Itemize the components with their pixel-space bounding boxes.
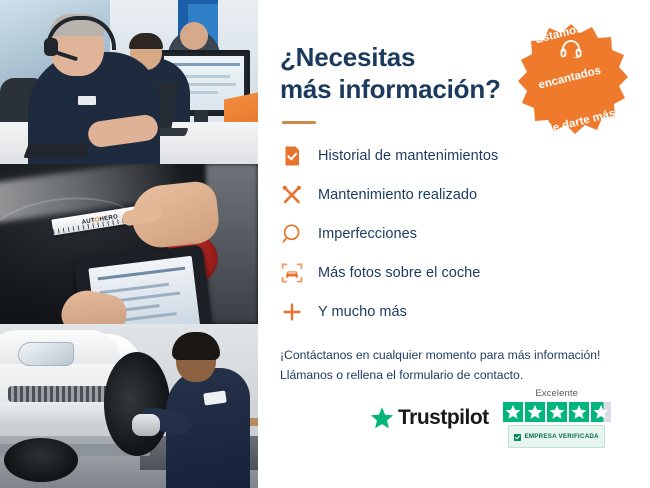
badge-line-1: Estamos bbox=[511, 17, 607, 53]
list-item: Y mucho más bbox=[280, 300, 650, 324]
badge-line-3: de darte más bbox=[533, 104, 629, 140]
trustpilot-star-icon bbox=[370, 406, 394, 430]
star-filled-icon bbox=[503, 402, 523, 422]
checklist-document-icon bbox=[280, 144, 304, 168]
contact-line-1: ¡Contáctanos en cualquier momento para m… bbox=[280, 348, 600, 362]
headline-line-1: ¿Necesitas bbox=[280, 42, 415, 72]
star-rating bbox=[503, 402, 611, 422]
trustpilot-logo[interactable]: Trustpilot bbox=[370, 406, 489, 430]
plus-icon bbox=[280, 300, 304, 324]
star-partial-icon bbox=[591, 402, 611, 422]
verified-label: EMPRESA VERIFICADA bbox=[524, 433, 598, 440]
photo-column: AUTOHERO bbox=[0, 0, 258, 488]
magnifier-icon bbox=[280, 222, 304, 246]
trustpilot-rating: Excelente bbox=[503, 388, 611, 448]
verified-check-icon bbox=[514, 428, 521, 446]
trustpilot-widget[interactable]: Trustpilot Excelente bbox=[370, 388, 611, 448]
star-filled-icon bbox=[547, 402, 567, 422]
rating-label: Excelente bbox=[535, 388, 578, 399]
trustpilot-brand: Trustpilot bbox=[398, 406, 489, 430]
car-inspection-photo: AUTOHERO bbox=[0, 164, 258, 324]
list-item: Imperfecciones bbox=[280, 222, 650, 246]
contact-text: ¡Contáctanos en cualquier momento para m… bbox=[280, 346, 630, 386]
content-panel: ¿Necesitas más información? Historial de… bbox=[258, 0, 650, 488]
workshop-wheel-photo bbox=[0, 324, 258, 488]
headline-line-2: más información? bbox=[280, 74, 501, 104]
status-badge: Estamos encantados de darte más informac… bbox=[510, 22, 632, 144]
verified-badge: EMPRESA VERIFICADA bbox=[508, 425, 604, 448]
list-item: Mantenimiento realizado bbox=[280, 183, 650, 207]
star-filled-icon bbox=[569, 402, 589, 422]
title-divider bbox=[282, 121, 316, 124]
list-item-label: Mantenimiento realizado bbox=[318, 187, 477, 203]
list-item-label: Historial de mantenimientos bbox=[318, 148, 498, 164]
call-center-agent-photo bbox=[0, 0, 258, 164]
badge-line-2: encantados bbox=[522, 60, 618, 96]
car-viewfinder-icon bbox=[280, 261, 304, 285]
contact-line-2: Llámanos o rellena el formulario de cont… bbox=[280, 368, 523, 382]
star-filled-icon bbox=[525, 402, 545, 422]
info-banner: AUTOHERO bbox=[0, 0, 650, 488]
page-title: ¿Necesitas más información? bbox=[280, 42, 525, 105]
list-item-label: Y mucho más bbox=[318, 304, 407, 320]
list-item-label: Imperfecciones bbox=[318, 226, 417, 242]
list-item: Más fotos sobre el coche bbox=[280, 261, 650, 285]
crossed-tools-icon bbox=[280, 183, 304, 207]
list-item-label: Más fotos sobre el coche bbox=[318, 265, 480, 281]
